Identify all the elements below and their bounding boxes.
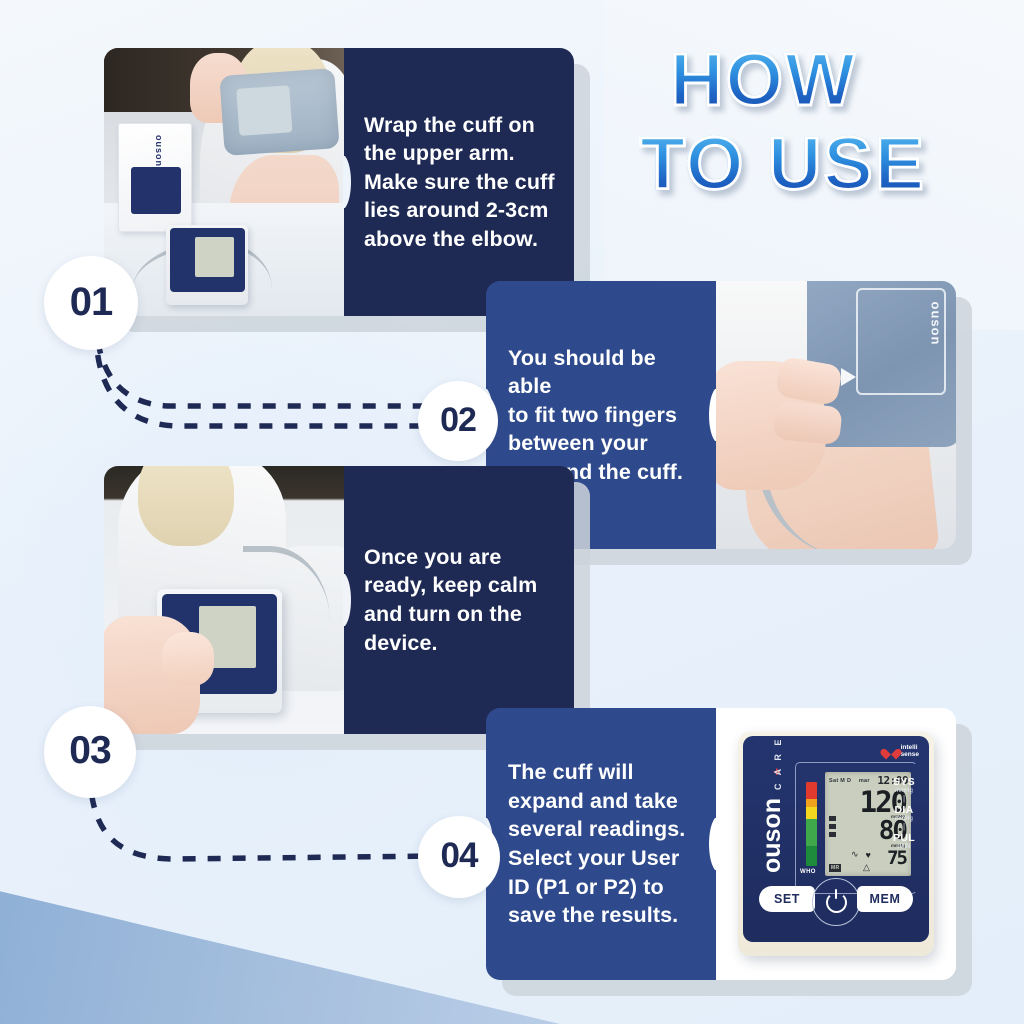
step-01-text: Wrap the cuff on the upper arm. Make sur… [344,111,571,254]
label-pul: PUL [889,832,919,844]
measurement-labels: SYSmmHg|DIAmmHg|PUL/MIN [889,776,919,851]
step-01-panel: Wrap the cuff on the upper arm. Make sur… [344,48,574,316]
step-badge-02-label: 02 [440,401,476,440]
title-line-1: HOW [640,45,1024,115]
step-04-panel: The cuff will expand and take several re… [486,708,716,980]
step-04-text: The cuff will expand and take several re… [486,758,697,930]
who-label: WHO [800,869,816,875]
device-brand-label: ouson [758,798,787,873]
power-icon [826,892,847,913]
step-badge-01[interactable]: 01 [44,256,138,350]
step-badge-04-label: 04 [441,836,478,876]
title-line-2: TO USE [640,129,1024,199]
who-segment [806,846,817,866]
label-dia: DIA [889,804,919,816]
step-03-panel: Once you are ready, keep calm and turn o… [344,466,574,734]
who-indicator-bar [806,782,817,866]
heartbeat-wave-icon: ∿ [851,849,859,860]
blood-pressure-monitor: + ouson C A R E intelli sense [738,732,934,956]
lcd-status-mid: mar [859,778,870,784]
label-sys: SYS [889,776,919,788]
page-title: HOW TO USE [640,45,1024,260]
pressure-bars-icon [829,816,836,840]
step-card-04: The cuff will expand and take several re… [486,708,956,980]
set-button[interactable]: SET [759,886,815,912]
cuff-brand-label: ouson [928,302,943,346]
step-03-photo [104,466,344,734]
step-04-photo: + ouson C A R E intelli sense [716,708,956,980]
step-01-photo: ouson [104,48,344,316]
who-segment [806,799,817,807]
panel-notch-icon [343,156,363,208]
label-separator: | [889,795,919,803]
intellisense-logo: intelli sense [885,745,919,759]
panel-notch-icon [697,818,717,870]
step-card-03: Once you are ready, keep calm and turn o… [104,466,574,734]
lcd-status-icons: ∿ ♥ [851,849,871,860]
step-badge-01-label: 01 [70,280,113,325]
step-badge-03[interactable]: 03 [44,706,136,798]
lcd-status-left: Sat M D [829,778,851,784]
power-button[interactable] [812,878,860,926]
cuff-arrow-icon [841,368,856,386]
step-03-text: Once you are ready, keep calm and turn o… [344,543,553,657]
lcd-memory-tag: MR [829,864,841,872]
who-segment [806,807,817,819]
device-buttons: SET MEM [743,880,929,920]
step-badge-02[interactable]: 02 [418,381,498,461]
heart-icon [885,746,898,757]
infographic-canvas: HOW TO USE ouson [0,0,1024,1024]
who-segment [806,819,817,846]
device-subbrand-label: C A R E [773,737,783,790]
step-02-photo: ouson [716,281,956,549]
panel-notch-icon [697,389,717,441]
who-segment [806,782,817,799]
step-card-01: ouson Wrap the cuff on the upper arm. Ma… [104,48,574,316]
unit-pul: /MIN [889,844,919,850]
label-separator: | [889,823,919,831]
bell-icon: △ [863,862,870,873]
intellisense-line-2: sense [901,752,919,759]
step-badge-03-label: 03 [69,729,110,773]
mem-button[interactable]: MEM [857,886,913,912]
heart-small-icon: ♥ [866,850,871,860]
step-badge-04[interactable]: 04 [418,816,500,898]
panel-notch-icon [343,574,363,626]
